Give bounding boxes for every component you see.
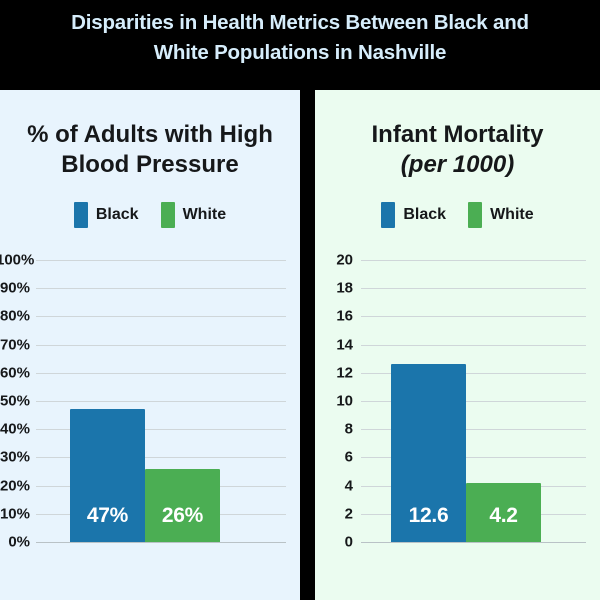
panel-heading-line-2: (per 1000) <box>325 150 590 180</box>
chart-title: Disparities in Health Metrics Between Bl… <box>0 0 600 88</box>
y-axis-tick-label: 40% <box>0 421 30 438</box>
legend-label-black: Black <box>403 206 446 224</box>
panel-blood-pressure: % of Adults with High Blood Pressure Bla… <box>0 90 300 600</box>
y-axis-tick-label: 20 <box>319 252 353 269</box>
legend-blood-pressure: Black White <box>0 202 300 228</box>
y-axis-tick-label: 0% <box>0 534 30 551</box>
y-axis-tick-label: 4 <box>319 477 353 494</box>
y-axis-tick-label: 6 <box>319 449 353 466</box>
axis-baseline <box>36 542 286 543</box>
panel-heading-line-2: Blood Pressure <box>10 150 290 180</box>
panel-heading-line-1: Infant Mortality <box>325 120 590 150</box>
y-axis-tick-label: 8 <box>319 421 353 438</box>
y-axis-tick-label: 90% <box>0 280 30 297</box>
y-axis-tick-label: 18 <box>319 280 353 297</box>
bar-black[interactable]: 12.6 <box>391 364 466 542</box>
y-axis-tick-label: 12 <box>319 364 353 381</box>
title-line-1: Disparities in Health Metrics Between Bl… <box>71 8 529 38</box>
legend-item-black[interactable]: Black <box>74 202 139 228</box>
legend-swatch-white-icon <box>468 202 482 228</box>
y-axis-tick-label: 30% <box>0 449 30 466</box>
infographic-root: Disparities in Health Metrics Between Bl… <box>0 0 600 600</box>
legend-item-white[interactable]: White <box>161 202 227 228</box>
legend-label-white: White <box>183 206 227 224</box>
plot-area-infant-mortality: 0246810121416182012.64.2 <box>361 244 586 564</box>
panels-container: % of Adults with High Blood Pressure Bla… <box>0 90 600 600</box>
bar-black[interactable]: 47% <box>70 409 145 542</box>
y-axis-tick-label: 100% <box>0 252 30 269</box>
plot-blood-pressure: 0%10%20%30%40%50%60%70%80%90%100%47%26% <box>0 244 300 564</box>
y-axis-tick-label: 80% <box>0 308 30 325</box>
panel-heading-blood-pressure: % of Adults with High Blood Pressure <box>0 120 300 180</box>
bar-value-label: 12.6 <box>391 504 466 528</box>
legend-item-black[interactable]: Black <box>381 202 446 228</box>
bar-value-label: 26% <box>145 504 220 528</box>
bar-white[interactable]: 26% <box>145 469 220 542</box>
y-axis-tick-label: 16 <box>319 308 353 325</box>
y-axis-tick-label: 14 <box>319 336 353 353</box>
bar-value-label: 47% <box>70 504 145 528</box>
y-axis-tick-label: 70% <box>0 336 30 353</box>
y-axis-tick-label: 10 <box>319 393 353 410</box>
legend-label-white: White <box>490 206 534 224</box>
title-line-2: White Populations in Nashville <box>154 38 446 68</box>
y-axis-tick-label: 60% <box>0 364 30 381</box>
y-axis-tick-label: 10% <box>0 505 30 522</box>
bar-value-label: 4.2 <box>466 504 541 528</box>
y-axis-tick-label: 20% <box>0 477 30 494</box>
panel-heading-line-1: % of Adults with High <box>10 120 290 150</box>
axis-baseline <box>361 542 586 543</box>
bar-white[interactable]: 4.2 <box>466 483 541 542</box>
legend-infant-mortality: Black White <box>315 202 600 228</box>
plot-area-blood-pressure: 0%10%20%30%40%50%60%70%80%90%100%47%26% <box>36 244 286 564</box>
bars-area: 12.64.2 <box>391 260 541 542</box>
legend-swatch-white-icon <box>161 202 175 228</box>
y-axis-tick-label: 50% <box>0 393 30 410</box>
plot-infant-mortality: 0246810121416182012.64.2 <box>315 244 600 564</box>
panel-heading-infant-mortality: Infant Mortality (per 1000) <box>315 120 600 180</box>
legend-item-white[interactable]: White <box>468 202 534 228</box>
legend-swatch-black-icon <box>74 202 88 228</box>
bars-area: 47%26% <box>70 260 220 542</box>
panel-infant-mortality: Infant Mortality (per 1000) Black White … <box>315 90 600 600</box>
legend-label-black: Black <box>96 206 139 224</box>
y-axis-tick-label: 2 <box>319 505 353 522</box>
y-axis-tick-label: 0 <box>319 534 353 551</box>
legend-swatch-black-icon <box>381 202 395 228</box>
